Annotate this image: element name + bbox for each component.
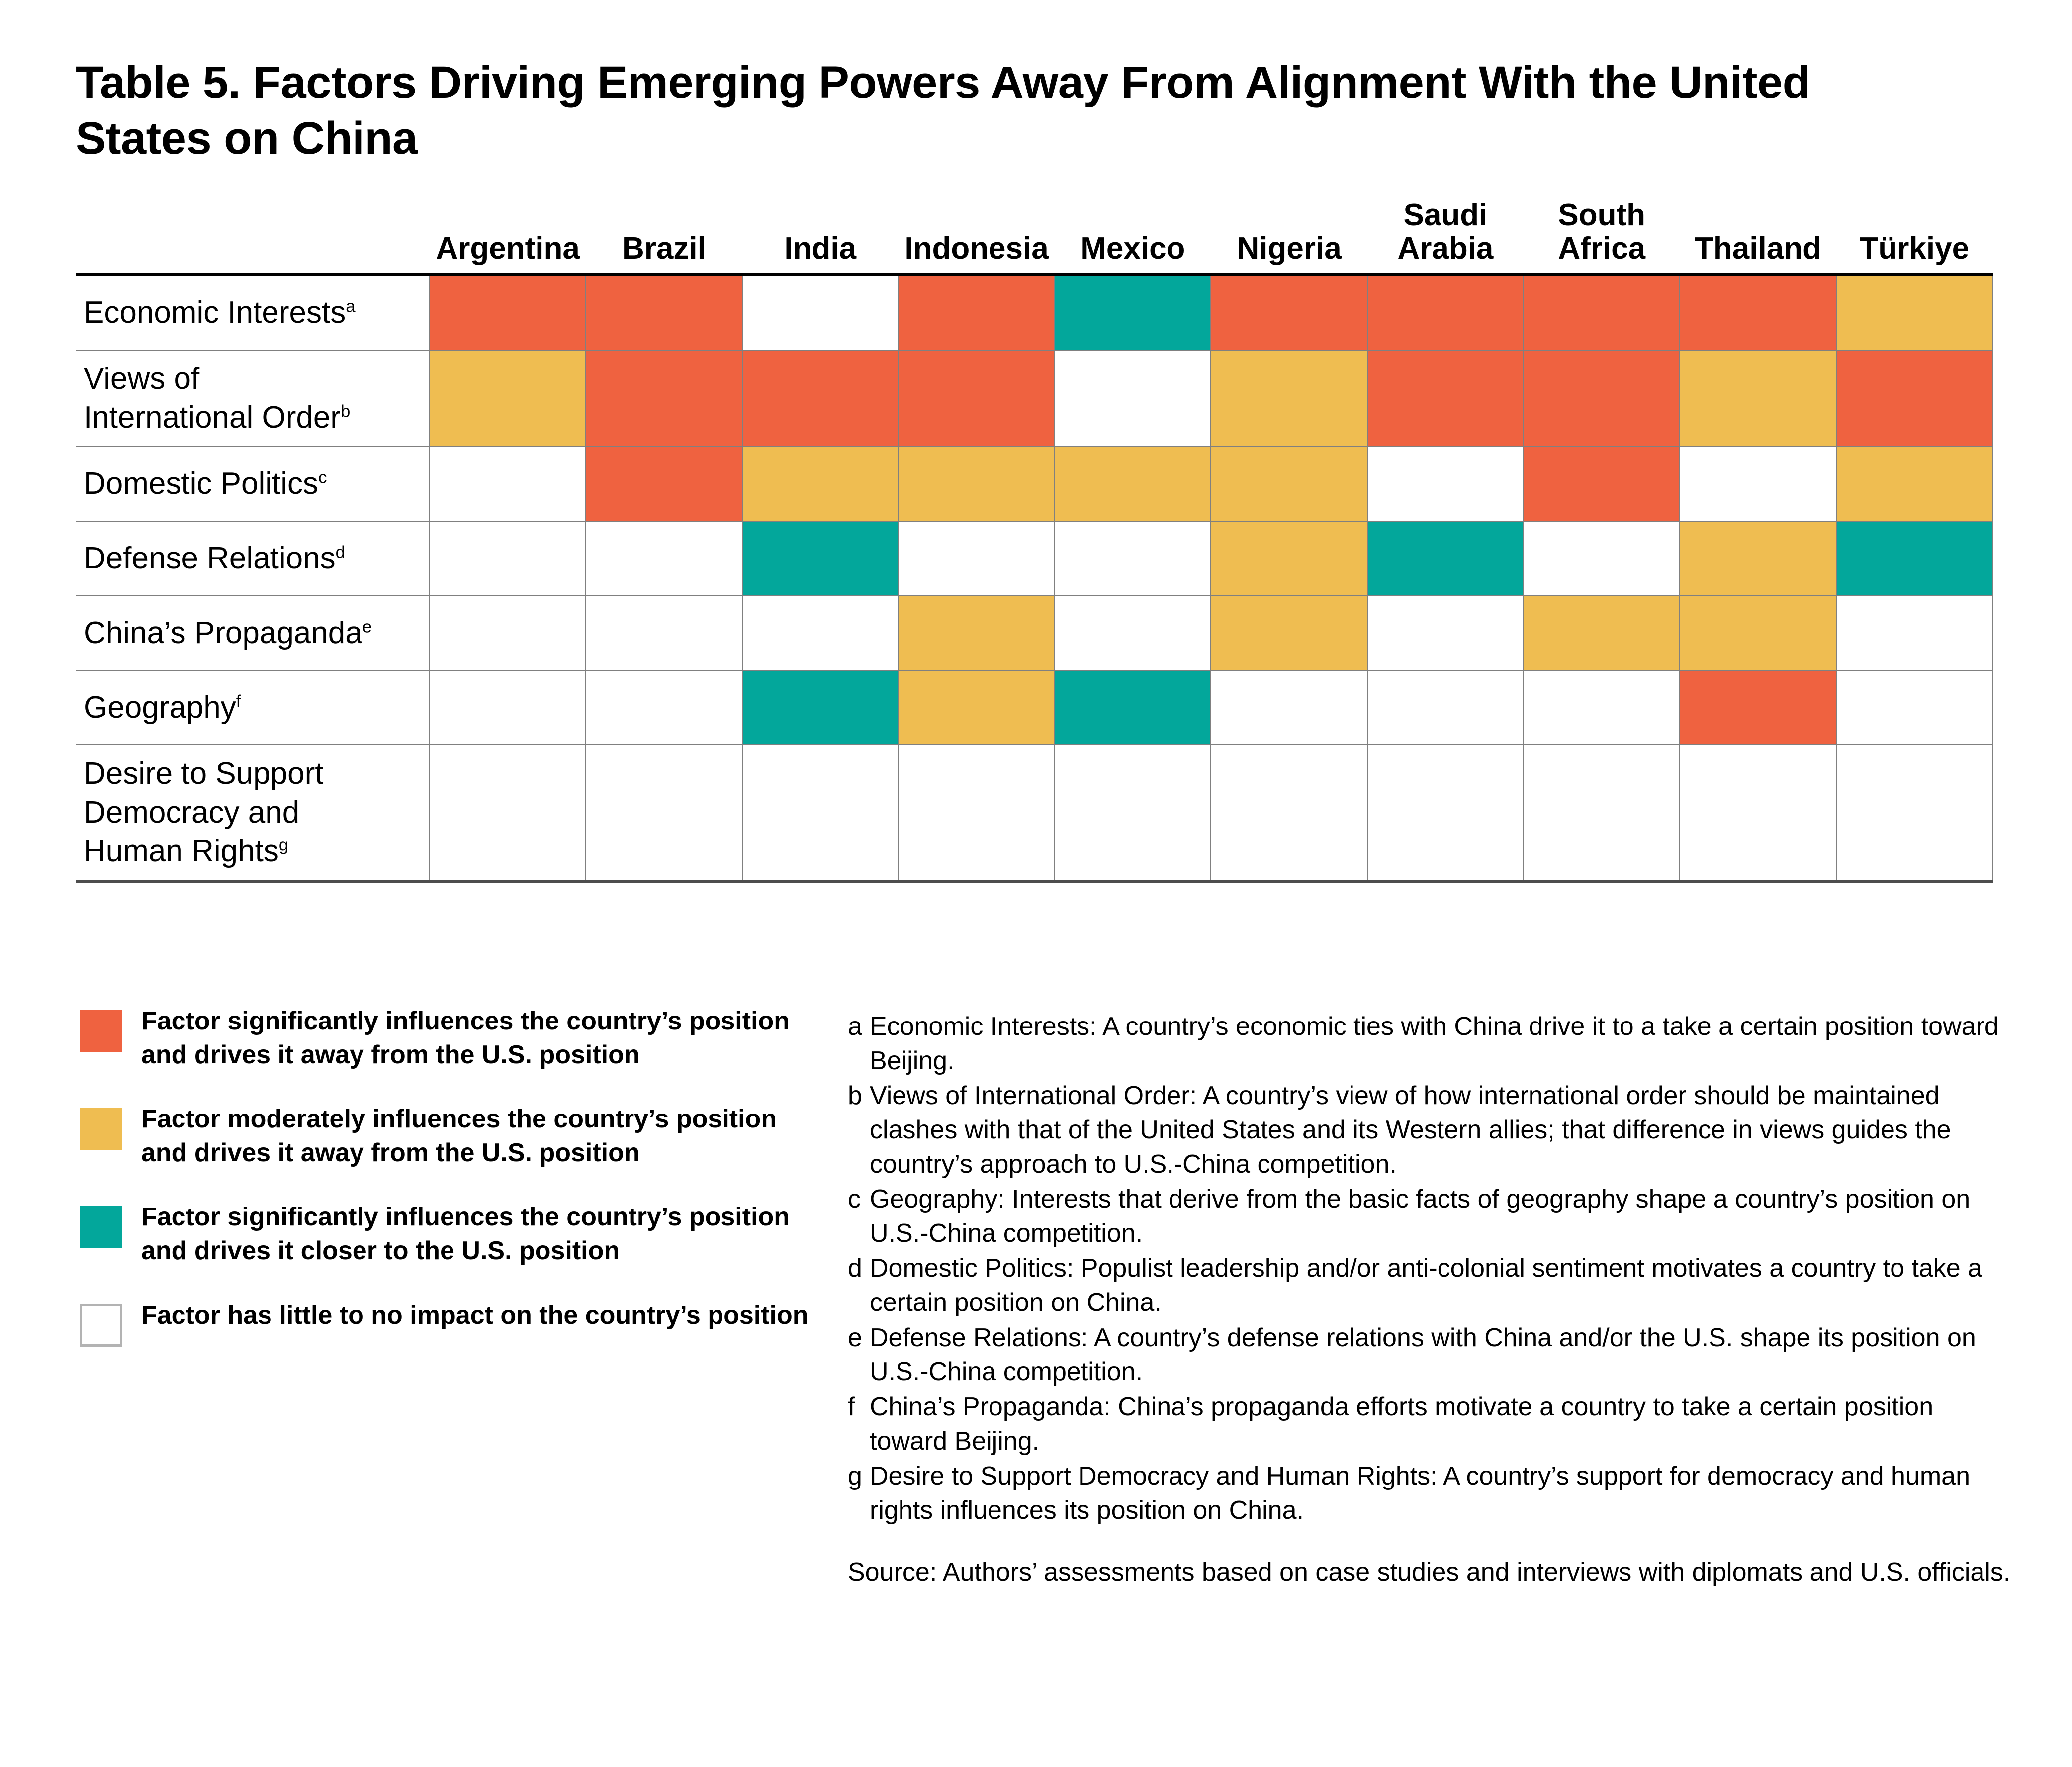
column-header-brazil: Brazil	[586, 199, 742, 274]
matrix-cell-none	[1680, 745, 1836, 882]
legend-item: Factor has little to no impact on the co…	[80, 1299, 835, 1347]
matrix-cell-none	[1367, 447, 1524, 521]
matrix-cell-none	[899, 521, 1055, 596]
footnote-marker: a	[346, 297, 355, 316]
footnote-text: Views of International Order: A country’…	[870, 1079, 2011, 1181]
column-header-south-africa: South Africa	[1524, 199, 1680, 274]
matrix-cell-none	[586, 670, 742, 745]
column-header-thailand: Thailand	[1680, 199, 1836, 274]
matrix-cell-red	[430, 274, 586, 350]
matrix-cell-yellow	[1680, 596, 1836, 670]
matrix-cell-none	[1524, 670, 1680, 745]
legend-swatch-red	[80, 1010, 122, 1052]
matrix-cell-red	[899, 350, 1055, 447]
table-row: Economic Interestsa	[76, 274, 1992, 350]
footnote-marker: e	[362, 617, 372, 636]
table-page: Table 5. Factors Driving Emerging Powers…	[0, 0, 2072, 1767]
table-row: Domestic Politicsc	[76, 447, 1992, 521]
factors-matrix-table: Argentina Brazil India Indonesia Mexico …	[76, 199, 1995, 883]
matrix-cell-red	[1524, 447, 1680, 521]
matrix-cell-red	[1367, 350, 1524, 447]
matrix-cell-red	[586, 274, 742, 350]
matrix-cell-none	[1055, 745, 1211, 882]
table-row: China’s Propagandae	[76, 596, 1992, 670]
matrix-cell-yellow	[430, 350, 586, 447]
footnote-text: Defense Relations: A country’s defense r…	[870, 1321, 2011, 1389]
matrix-cell-none	[1211, 670, 1367, 745]
footnote-marker: d	[848, 1251, 870, 1319]
matrix-cell-none	[1367, 596, 1524, 670]
matrix-cell-red	[742, 350, 899, 447]
matrix-cell-none	[1055, 521, 1211, 596]
legend-item: Factor significantly influences the coun…	[80, 1005, 835, 1072]
row-label: Defense Relationsd	[76, 521, 430, 596]
footnote-marker: g	[279, 836, 288, 855]
matrix-cell-red	[899, 274, 1055, 350]
matrix-cell-yellow	[899, 670, 1055, 745]
table-row: Defense Relationsd	[76, 521, 1992, 596]
footnote-text: China’s Propaganda: China’s propaganda e…	[870, 1390, 2011, 1458]
matrix-cell-none	[1055, 596, 1211, 670]
legend-item: Factor significantly influences the coun…	[80, 1201, 835, 1268]
matrix-cell-teal	[1367, 521, 1524, 596]
matrix-cell-none	[1055, 350, 1211, 447]
footnote: aEconomic Interests: A country’s economi…	[848, 1010, 2011, 1078]
matrix-cell-none	[1524, 745, 1680, 882]
row-label: Domestic Politicsc	[76, 447, 430, 521]
legend-label: Factor moderately influences the country…	[141, 1103, 777, 1170]
matrix-cell-none	[899, 745, 1055, 882]
matrix-cell-yellow	[1836, 274, 1992, 350]
legend-label: Factor significantly influences the coun…	[141, 1005, 790, 1072]
matrix-cell-teal	[1055, 274, 1211, 350]
matrix-cell-none	[1367, 745, 1524, 882]
matrix-cell-none	[1836, 596, 1992, 670]
matrix-cell-none	[1680, 447, 1836, 521]
header-row: Argentina Brazil India Indonesia Mexico …	[76, 199, 1992, 274]
matrix-cell-yellow	[1211, 596, 1367, 670]
footnote-marker: e	[848, 1321, 870, 1389]
footnote: dDomestic Politics: Populist leadership …	[848, 1251, 2011, 1319]
footnote-marker: b	[848, 1079, 870, 1181]
row-label: Geographyf	[76, 670, 430, 745]
row-label: China’s Propagandae	[76, 596, 430, 670]
table-body: Economic InterestsaViews of Internationa…	[76, 274, 1992, 882]
legend-swatch-yellow	[80, 1108, 122, 1150]
row-label: Views of International Orderb	[76, 350, 430, 447]
matrix-cell-none	[1836, 670, 1992, 745]
footnote-marker: g	[848, 1459, 870, 1527]
footnote-marker: f	[848, 1390, 870, 1458]
column-header-turkiye: Türkiye	[1836, 199, 1992, 274]
footnote-text: Geography: Interests that derive from th…	[870, 1182, 2011, 1250]
table-row: Geographyf	[76, 670, 1992, 745]
matrix-cell-yellow	[1680, 350, 1836, 447]
table-row: Views of International Orderb	[76, 350, 1992, 447]
matrix-cell-none	[1524, 521, 1680, 596]
matrix-cell-teal	[1055, 670, 1211, 745]
matrix-cell-none	[430, 670, 586, 745]
matrix-cell-red	[1211, 274, 1367, 350]
footnote-marker: a	[848, 1010, 870, 1078]
matrix-cell-none	[430, 521, 586, 596]
table-head: Argentina Brazil India Indonesia Mexico …	[76, 199, 1992, 274]
matrix-cell-yellow	[899, 596, 1055, 670]
matrix-cell-yellow	[1211, 350, 1367, 447]
matrix-cell-yellow	[1211, 521, 1367, 596]
footnote: gDesire to Support Democracy and Human R…	[848, 1459, 2011, 1527]
matrix-cell-yellow	[742, 447, 899, 521]
legend-label: Factor has little to no impact on the co…	[141, 1299, 809, 1333]
matrix-cell-yellow	[1524, 596, 1680, 670]
footnote: fChina’s Propaganda: China’s propaganda …	[848, 1390, 2011, 1458]
footnote-text: Desire to Support Democracy and Human Ri…	[870, 1459, 2011, 1527]
matrix-cell-none	[430, 596, 586, 670]
footnote-marker: b	[341, 402, 350, 421]
legend: Factor significantly influences the coun…	[80, 1005, 835, 1378]
footnote-marker: d	[336, 543, 345, 561]
column-header-nigeria: Nigeria	[1211, 199, 1367, 274]
footnotes: aEconomic Interests: A country’s economi…	[848, 1010, 2011, 1589]
matrix-cell-yellow	[1836, 447, 1992, 521]
matrix-cell-teal	[742, 521, 899, 596]
matrix-cell-red	[1680, 670, 1836, 745]
matrix-cell-none	[586, 596, 742, 670]
matrix-cell-none	[742, 745, 899, 882]
matrix: Argentina Brazil India Indonesia Mexico …	[76, 199, 1993, 883]
legend-item: Factor moderately influences the country…	[80, 1103, 835, 1170]
footnote-marker: f	[236, 692, 241, 711]
legend-swatch-none	[80, 1304, 122, 1347]
matrix-cell-red	[1524, 350, 1680, 447]
matrix-cell-none	[586, 745, 742, 882]
footnote: eDefense Relations: A country’s defense …	[848, 1321, 2011, 1389]
matrix-cell-none	[1211, 745, 1367, 882]
row-label: Economic Interestsa	[76, 274, 430, 350]
legend-label: Factor significantly influences the coun…	[141, 1201, 790, 1268]
matrix-cell-red	[586, 447, 742, 521]
matrix-cell-yellow	[899, 447, 1055, 521]
matrix-cell-teal	[742, 670, 899, 745]
footnote-marker: c	[318, 468, 327, 487]
matrix-cell-none	[742, 274, 899, 350]
corner-cell	[76, 199, 430, 274]
matrix-cell-yellow	[1680, 521, 1836, 596]
matrix-cell-none	[1836, 745, 1992, 882]
column-header-argentina: Argentina	[430, 199, 586, 274]
source-line: Source: Authors’ assessments based on ca…	[848, 1555, 2011, 1589]
footnote-text: Domestic Politics: Populist leadership a…	[870, 1251, 2011, 1319]
footnote-text: Economic Interests: A country’s economic…	[870, 1010, 2011, 1078]
matrix-cell-none	[430, 745, 586, 882]
matrix-cell-none	[742, 596, 899, 670]
column-header-india: India	[742, 199, 899, 274]
column-header-indonesia: Indonesia	[899, 199, 1055, 274]
matrix-cell-teal	[1836, 521, 1992, 596]
legend-swatch-teal	[80, 1206, 122, 1248]
column-header-mexico: Mexico	[1055, 199, 1211, 274]
column-header-saudi-arabia: Saudi Arabia	[1367, 199, 1524, 274]
footnote: bViews of International Order: A country…	[848, 1079, 2011, 1181]
matrix-cell-none	[1367, 670, 1524, 745]
row-label: Desire to Support Democracy and Human Ri…	[76, 745, 430, 882]
table-row: Desire to Support Democracy and Human Ri…	[76, 745, 1992, 882]
page-title: Table 5. Factors Driving Emerging Powers…	[76, 55, 1940, 166]
matrix-cell-red	[1367, 274, 1524, 350]
matrix-cell-red	[1680, 274, 1836, 350]
matrix-cell-yellow	[1055, 447, 1211, 521]
matrix-cell-none	[586, 521, 742, 596]
matrix-cell-red	[1524, 274, 1680, 350]
matrix-cell-red	[1836, 350, 1992, 447]
footnote-marker: c	[848, 1182, 870, 1250]
footnote: cGeography: Interests that derive from t…	[848, 1182, 2011, 1250]
matrix-cell-none	[430, 447, 586, 521]
matrix-cell-red	[586, 350, 742, 447]
matrix-cell-yellow	[1211, 447, 1367, 521]
